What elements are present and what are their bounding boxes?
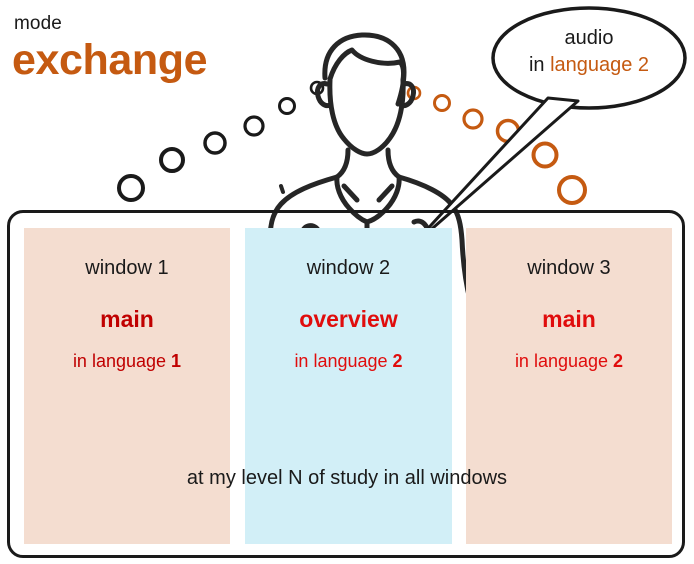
window-3-language: in language 2 — [466, 352, 672, 370]
orange-bubble-arc — [408, 87, 585, 203]
window-1-title: window 1 — [24, 258, 230, 278]
window-1-role: main — [24, 308, 230, 331]
black-bubble-arc — [119, 82, 323, 200]
mode-name-title: exchange — [12, 39, 207, 82]
window-2-language: in language 2 — [245, 352, 452, 370]
window-1-language-prefix: in language — [73, 351, 171, 371]
window-panel-3[interactable]: window 3 main in language 2 — [466, 228, 672, 544]
diagram-canvas: mode exchange — [0, 0, 694, 564]
speech-bubble-line1: audio — [497, 25, 681, 52]
footer-note: at my level N of study in all windows — [0, 468, 694, 488]
mode-label: mode — [14, 14, 62, 33]
window-1-language-number: 1 — [171, 351, 181, 371]
window-2-title: window 2 — [245, 258, 452, 278]
speech-bubble-line2-prefix: in — [529, 54, 550, 76]
window-2-role: overview — [245, 308, 452, 331]
window-panel-1[interactable]: window 1 main in language 1 — [24, 228, 230, 544]
window-2-language-prefix: in language — [294, 351, 392, 371]
window-panel-2[interactable]: window 2 overview in language 2 — [245, 228, 452, 544]
window-1-language: in language 1 — [24, 352, 230, 370]
window-3-role: main — [466, 308, 672, 331]
window-2-language-number: 2 — [393, 351, 403, 371]
speech-bubble-line2-accent: language 2 — [550, 54, 649, 76]
speech-bubble-line2: in language 2 — [497, 52, 681, 79]
speech-bubble-text: audio in language 2 — [497, 25, 681, 79]
window-3-language-prefix: in language — [515, 351, 613, 371]
window-3-title: window 3 — [466, 258, 672, 278]
window-3-language-number: 2 — [613, 351, 623, 371]
